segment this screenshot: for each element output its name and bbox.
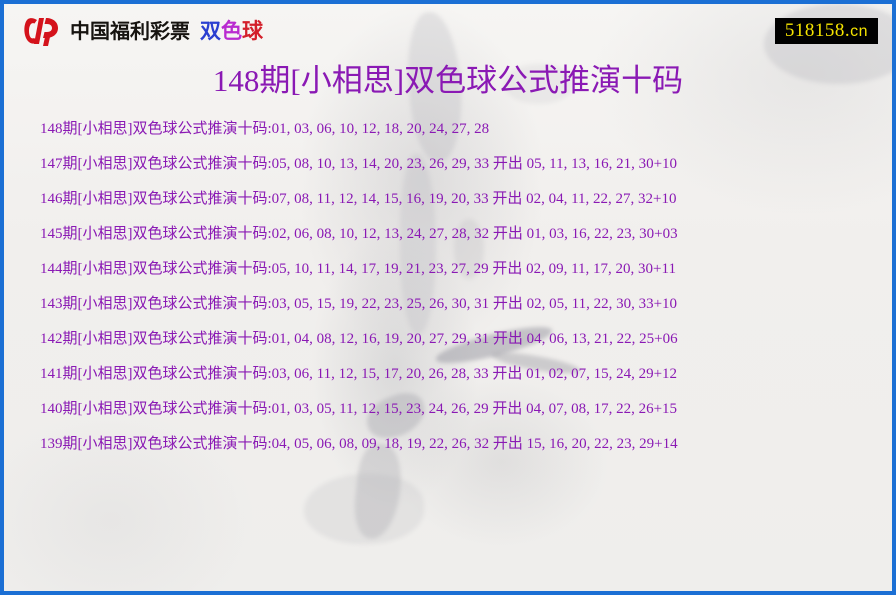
list-item: 142期[小相思]双色球公式推演十码:01, 04, 08, 12, 16, 1… <box>40 322 892 357</box>
page-title: 148期[小相思]双色球公式推演十码 <box>4 64 892 98</box>
brand-product-char-1: 双 <box>200 19 221 43</box>
list-item: 143期[小相思]双色球公式推演十码:03, 05, 15, 19, 22, 2… <box>40 287 892 322</box>
brand-product-char-3: 球 <box>242 19 263 43</box>
lottery-prediction-page: 中国福利彩票 双色球 518158.cn 148期[小相思]双色球公式推演十码 … <box>0 0 896 595</box>
brand-lockup: 中国福利彩票 双色球 <box>22 15 263 47</box>
brand-product-char-2: 色 <box>221 19 242 43</box>
list-item: 146期[小相思]双色球公式推演十码:07, 08, 11, 12, 14, 1… <box>40 182 892 217</box>
page-header: 中国福利彩票 双色球 518158.cn <box>4 4 892 58</box>
list-item: 145期[小相思]双色球公式推演十码:02, 06, 08, 10, 12, 1… <box>40 217 892 252</box>
site-domain-tld: cn <box>850 23 868 40</box>
list-item: 140期[小相思]双色球公式推演十码:01, 03, 05, 11, 12, 1… <box>40 392 892 427</box>
list-item: 148期[小相思]双色球公式推演十码:01, 03, 06, 10, 12, 1… <box>40 112 892 147</box>
brand-name-label: 中国福利彩票 <box>70 21 190 41</box>
cwl-emblem-icon <box>22 15 62 47</box>
list-item: 141期[小相思]双色球公式推演十码:03, 06, 11, 12, 15, 1… <box>40 357 892 392</box>
list-item: 139期[小相思]双色球公式推演十码:04, 05, 06, 08, 09, 1… <box>40 427 892 462</box>
prediction-list: 148期[小相思]双色球公式推演十码:01, 03, 06, 10, 12, 1… <box>4 112 892 462</box>
watermark-shape <box>304 474 424 544</box>
site-watermark-badge: 518158.cn <box>775 18 878 45</box>
site-domain-name: 518158. <box>785 20 850 41</box>
brand-product-label: 双色球 <box>200 21 263 42</box>
list-item: 144期[小相思]双色球公式推演十码:05, 10, 11, 14, 17, 1… <box>40 252 892 287</box>
list-item: 147期[小相思]双色球公式推演十码:05, 08, 10, 13, 14, 2… <box>40 147 892 182</box>
